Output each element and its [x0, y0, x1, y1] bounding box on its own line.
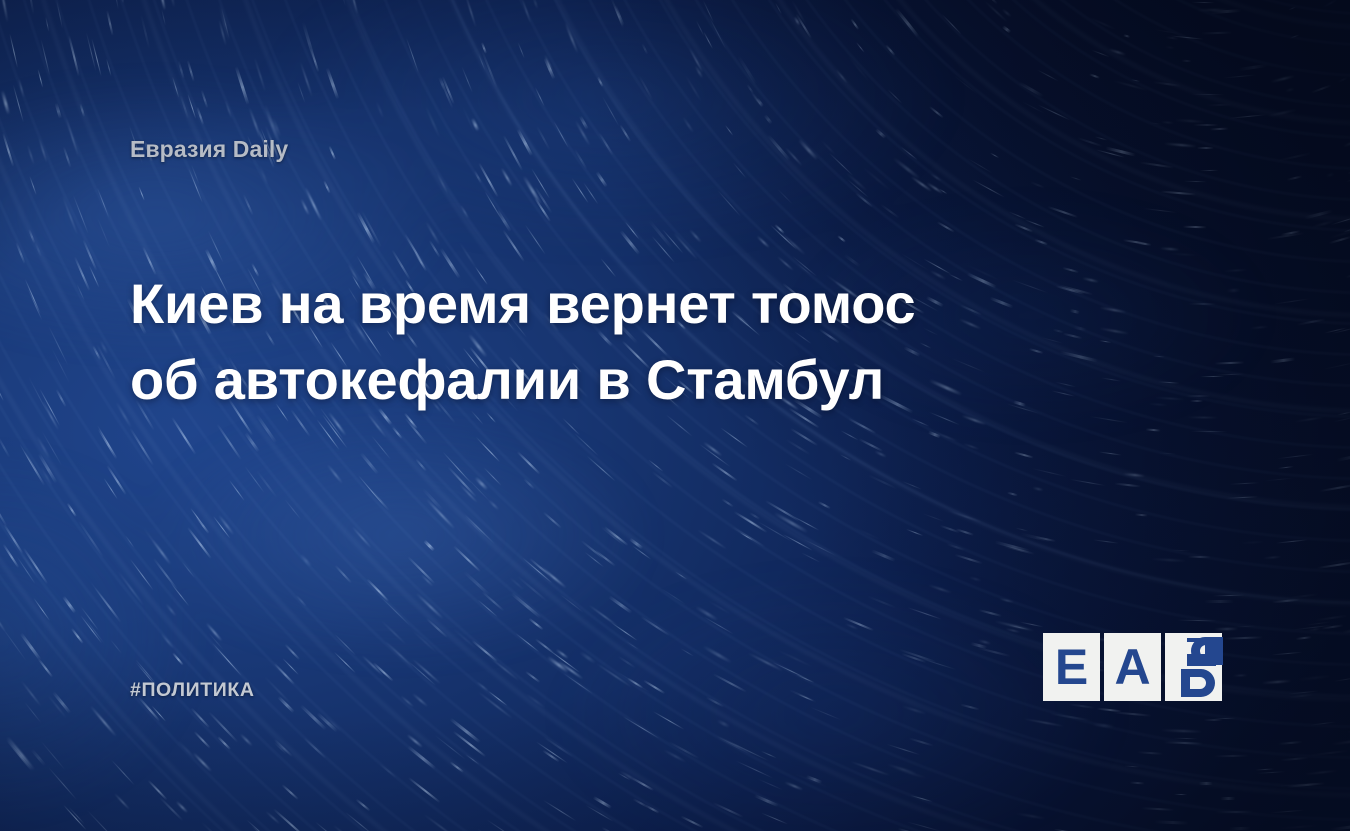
- topic-tag[interactable]: #ПОЛИТИКА: [130, 679, 255, 702]
- logo-tile-a: A: [1104, 633, 1161, 701]
- logo-letter-a: A: [1114, 642, 1150, 692]
- logo-mark-d-icon: [1169, 635, 1233, 699]
- card-content: Евразия Daily Киев на время вернет томос…: [0, 0, 1350, 831]
- page-title: Киев на время вернет томос об автокефали…: [130, 266, 960, 418]
- logo-tile-d: [1165, 633, 1222, 701]
- site-brand: Евразия Daily: [130, 136, 288, 163]
- news-card: Евразия Daily Киев на время вернет томос…: [0, 0, 1350, 831]
- logo-letter-e: E: [1055, 642, 1088, 692]
- ead-logo[interactable]: E A: [1043, 633, 1222, 701]
- logo-tile-e: E: [1043, 633, 1100, 701]
